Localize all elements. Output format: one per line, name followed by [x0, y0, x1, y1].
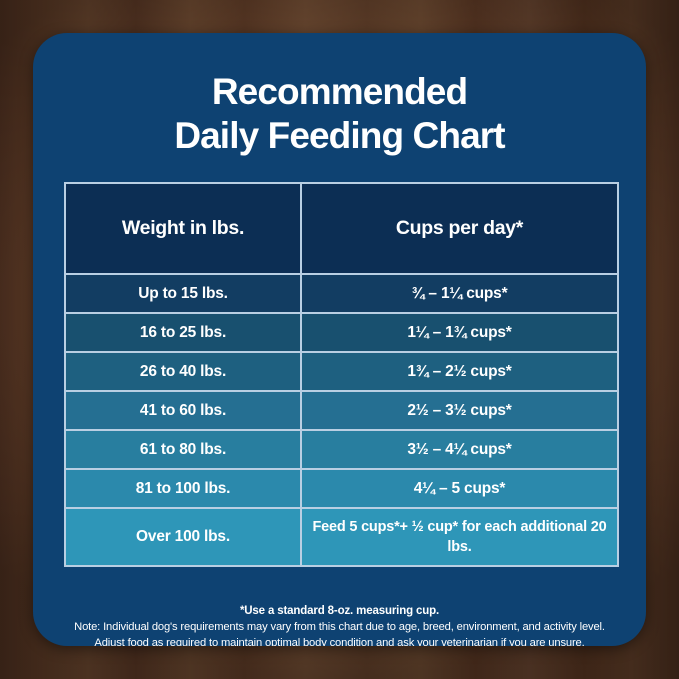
footnote-note-line-2: Adjust food as required to maintain opti…: [59, 636, 620, 646]
footnote-note-line-1: Note: Individual dog's requirements may …: [59, 620, 620, 636]
title-line-2: Daily Feeding Chart: [63, 114, 616, 158]
cell-weight: 61 to 80 lbs.: [65, 430, 301, 469]
footnote-measuring-cup: *Use a standard 8-oz. measuring cup.: [59, 605, 620, 617]
cell-weight: Up to 15 lbs.: [65, 274, 301, 313]
table-row: 61 to 80 lbs.3½ – 4¼ cups*: [65, 430, 618, 469]
cell-cups-per-day: 1¼ – 1¾ cups*: [301, 313, 618, 352]
table-row: Over 100 lbs.Feed 5 cups*+ ½ cup* for ea…: [65, 508, 618, 566]
cell-weight: 16 to 25 lbs.: [65, 313, 301, 352]
feeding-chart-card: Recommended Daily Feeding Chart Weight i…: [33, 33, 646, 646]
cell-cups-per-day: 4¼ – 5 cups*: [301, 469, 618, 508]
cell-cups-per-day: Feed 5 cups*+ ½ cup* for each additional…: [301, 508, 618, 566]
cell-cups-per-day: 2½ – 3½ cups*: [301, 391, 618, 430]
cell-cups-per-day: ¾ – 1¼ cups*: [301, 274, 618, 313]
cell-weight: 41 to 60 lbs.: [65, 391, 301, 430]
table-row: 81 to 100 lbs.4¼ – 5 cups*: [65, 469, 618, 508]
cell-weight: 81 to 100 lbs.: [65, 469, 301, 508]
cell-weight: Over 100 lbs.: [65, 508, 301, 566]
column-header-cups: Cups per day*: [301, 183, 618, 274]
column-header-weight: Weight in lbs.: [65, 183, 301, 274]
table-row: Up to 15 lbs.¾ – 1¼ cups*: [65, 274, 618, 313]
table-header: Weight in lbs. Cups per day*: [65, 183, 618, 274]
title-line-1: Recommended: [63, 70, 616, 114]
table-header-row: Weight in lbs. Cups per day*: [65, 183, 618, 274]
table-row: 41 to 60 lbs.2½ – 3½ cups*: [65, 391, 618, 430]
footnotes: *Use a standard 8-oz. measuring cup. Not…: [59, 605, 620, 646]
table-row: 26 to 40 lbs.1¾ – 2½ cups*: [65, 352, 618, 391]
cell-cups-per-day: 3½ – 4¼ cups*: [301, 430, 618, 469]
cell-cups-per-day: 1¾ – 2½ cups*: [301, 352, 618, 391]
feeding-chart-table: Weight in lbs. Cups per day* Up to 15 lb…: [64, 182, 619, 567]
table-body: Up to 15 lbs.¾ – 1¼ cups*16 to 25 lbs.1¼…: [65, 274, 618, 566]
table-row: 16 to 25 lbs.1¼ – 1¾ cups*: [65, 313, 618, 352]
cell-weight: 26 to 40 lbs.: [65, 352, 301, 391]
page-title: Recommended Daily Feeding Chart: [33, 33, 646, 159]
